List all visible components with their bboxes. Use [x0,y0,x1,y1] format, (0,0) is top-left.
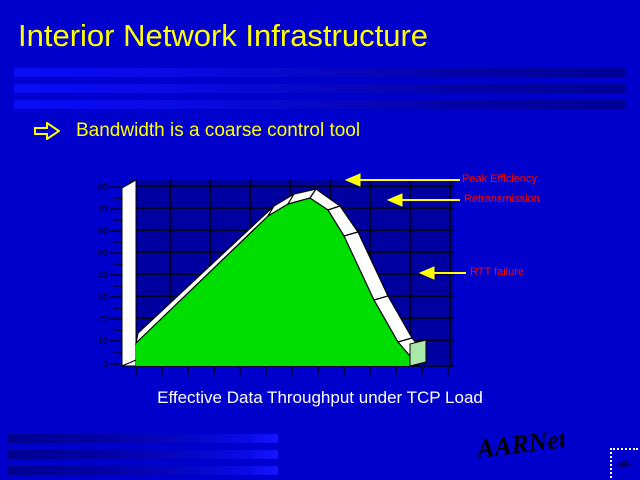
decor-bar-top-3 [14,100,626,109]
y-tick-label: 20 [98,314,108,324]
decor-bar-top-2 [14,84,626,93]
aarnet-logo: AARNet [478,428,564,468]
decor-bar-bottom-1 [8,434,278,443]
right-arrow-bullet-icon [34,122,60,140]
page-title: Interior Network Infrastructure [18,18,428,54]
decor-bar-top-1 [14,68,626,77]
y-axis-ticks [110,187,122,364]
bullet-row: Bandwidth is a coarse control tool [34,120,360,142]
slide-number: «#» [618,459,630,469]
y-tick-label: 40 [98,270,108,280]
y-tick-label: 50 [98,248,108,258]
annotation-retransmission: Retransmission [464,193,540,205]
decor-bar-bottom-3 [8,466,278,475]
aarnet-logo-text: AARNet [478,428,564,464]
series-endcap [410,340,426,366]
slide-number-placeholder: «#» [610,448,638,478]
bullet-text: Bandwidth is a coarse control tool [76,120,360,142]
y-tick-label: 0 [103,359,108,369]
throughput-chart: 80 70 60 50 40 30 20 10 0 [92,176,460,376]
y-tick-label: 80 [98,182,108,192]
y-axis-wall [122,180,136,366]
chart-caption: Effective Data Throughput under TCP Load [0,388,640,408]
x-axis-ticks [136,367,448,375]
decor-bar-bottom-2 [8,450,278,459]
y-tick-label: 10 [98,336,108,346]
annotation-rtt-failure: RTT failure [470,266,524,278]
y-tick-label: 30 [98,292,108,302]
annotation-peak-efficiency: Peak Efficiency [462,173,537,185]
y-axis-labels: 80 70 60 50 40 30 20 10 0 [98,182,108,369]
y-tick-label: 60 [98,226,108,236]
slide-canvas: Interior Network Infrastructure Bandwidt… [0,0,640,480]
y-tick-label: 70 [98,204,108,214]
